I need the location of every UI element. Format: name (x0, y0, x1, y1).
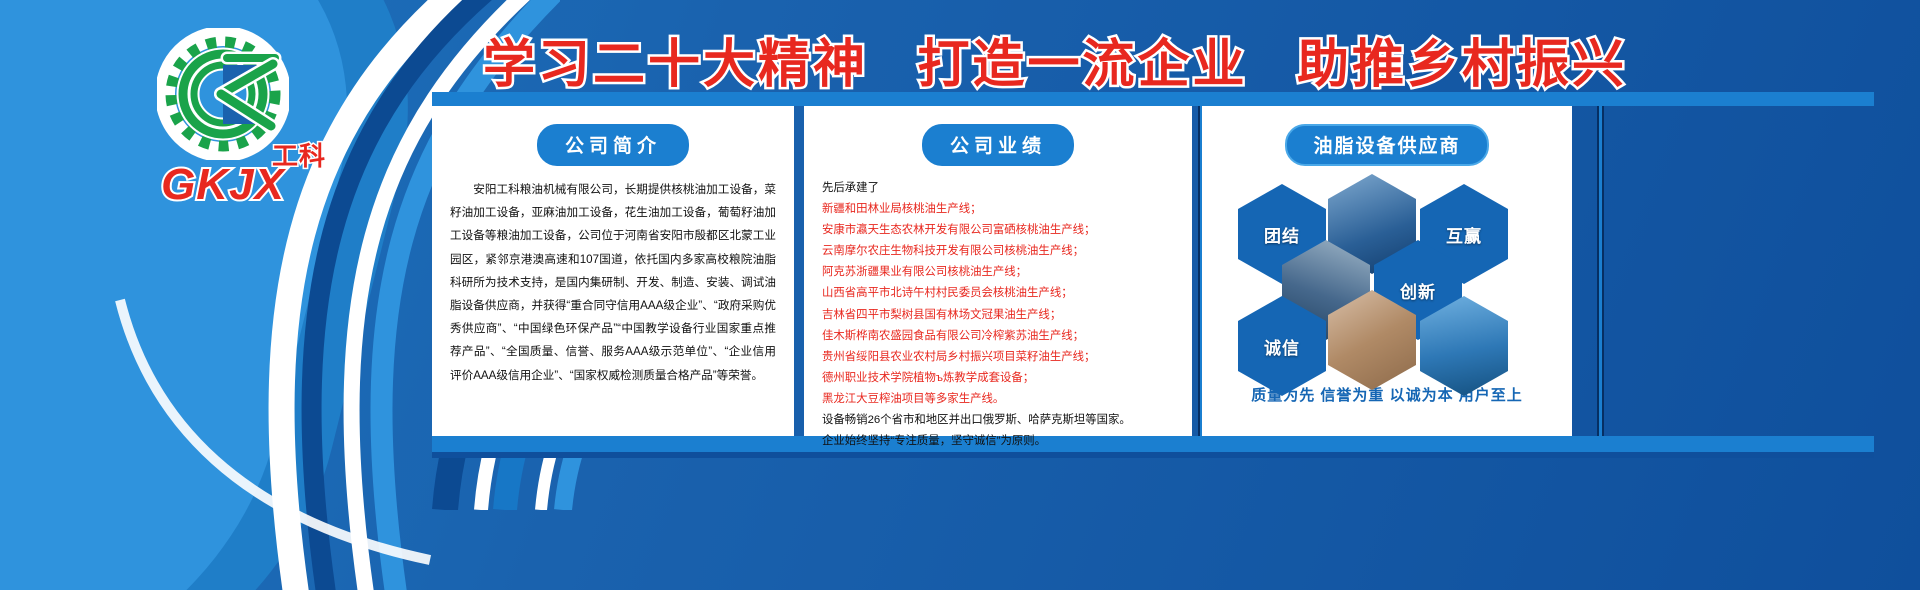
list-item: 云南摩尔农庄生物科技开发有限公司核桃油生产线； (822, 241, 1174, 262)
panel-frame-top (432, 92, 1874, 106)
promotional-banner: 工科 GKJX 学习二十大精神 打造一流企业 助推乡村振兴 公司简介 安阳工科粮… (0, 0, 1920, 590)
list-item: 吉林省四平市梨树县国有林场文冠果油生产线； (822, 305, 1174, 326)
list-item: 安康市瀛天生态农林开发有限公司富硒核桃油生产线； (822, 220, 1174, 241)
panel-company-intro: 公司简介 安阳工科粮油机械有限公司，长期提供核桃油加工设备，菜籽油加工设备，亚麻… (432, 106, 794, 436)
logo-en-text: GKJX (118, 160, 328, 210)
list-item: 山西省高平市北诗午村村民委员会核桃油生产线； (822, 283, 1174, 304)
hex-label: 团结 (1264, 222, 1300, 247)
panel-supplier: 油脂设备供应商 团结 互赢 创新 (1202, 106, 1572, 436)
list-item: 贵州省绥阳县农业农村局乡村振兴项目菜籽油生产线； (822, 347, 1174, 368)
intro-body-text: 安阳工科粮油机械有限公司，长期提供核桃油加工设备，菜籽油加工设备，亚麻油加工设备… (450, 178, 776, 387)
list-item: 阿克苏浙疆果业有限公司核桃油生产线； (822, 262, 1174, 283)
panel-title-supplier: 油脂设备供应商 (1285, 124, 1488, 166)
hexagon-cluster: 团结 互赢 创新 诚信 (1220, 178, 1560, 378)
list-item: 佳木斯桦南农盛园食品有限公司冷榨紫苏油生产线； (822, 326, 1174, 347)
performance-tail-1: 设备畅销26个省市和地区并出口俄罗斯、哈萨克斯坦等国家。 (822, 410, 1174, 431)
page-title: 学习二十大精神 打造一流企业 助推乡村振兴 (430, 22, 1680, 97)
panel-company-performance: 公司业绩 先后承建了 新疆和田林业局核桃油生产线； 安康市瀛天生态农林开发有限公… (804, 106, 1192, 436)
hex-label: 创新 (1400, 278, 1436, 303)
gear-icon (157, 28, 289, 160)
performance-list: 新疆和田林业局核桃油生产线； 安康市瀛天生态农林开发有限公司富硒核桃油生产线； … (822, 199, 1174, 410)
panel-frame-bottom-shadow (432, 452, 1874, 458)
list-item: 新疆和田林业局核桃油生产线； (822, 199, 1174, 220)
list-item: 德州职业技术学院植物ъ炼教学成套设备； (822, 368, 1174, 389)
performance-tail-2: 企业始终坚持“专注质量，坚守诚信”为原则。 (822, 431, 1174, 452)
headline-segment-2: 打造一流企业 (917, 36, 1247, 94)
headline-segment-1: 学习二十大精神 (483, 36, 868, 94)
panel-title-performance: 公司业绩 (922, 124, 1074, 166)
hex-label: 互赢 (1446, 222, 1482, 247)
panel-title-intro: 公司简介 (537, 124, 689, 166)
content-panels: 公司简介 安阳工科粮油机械有限公司，长期提供核桃油加工设备，菜籽油加工设备，亚麻… (432, 106, 1874, 436)
headline-segment-3: 助推乡村振兴 (1297, 36, 1627, 94)
performance-lead: 先后承建了 (822, 178, 1174, 199)
list-item: 黑龙江大豆榨油项目等多家生产线。 (822, 389, 1174, 410)
hex-label: 诚信 (1264, 334, 1300, 359)
company-logo: 工科 GKJX (118, 28, 328, 218)
